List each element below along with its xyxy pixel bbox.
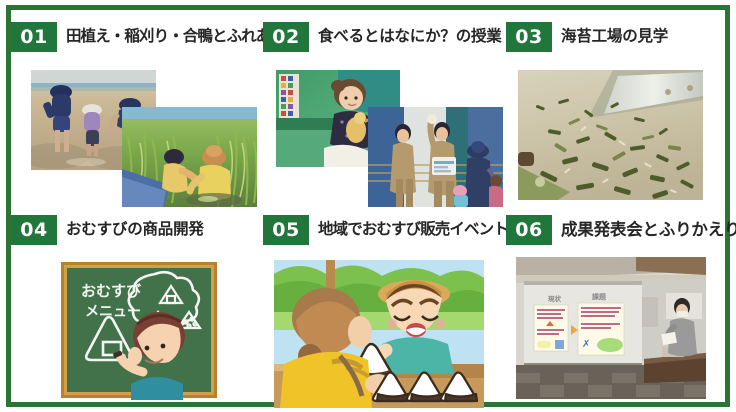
- onigiri-sales-event-illustration: [274, 260, 484, 408]
- panel-06-header: 06 成果発表会とふりかえり: [506, 215, 736, 245]
- panel-04-header: 04 おむすびの商品開発: [11, 215, 204, 245]
- svg-text:✗: ✗: [582, 339, 590, 350]
- panel-01-number-badge: 01: [11, 22, 57, 52]
- panel-03-title: 海苔工場の見学: [561, 29, 668, 45]
- panel-05-header: 05 地域でおむすび販売イベント: [263, 215, 508, 245]
- blackboard-onigiri-illustration: おむすび メニュー: [59, 260, 219, 400]
- slide-canvas: 01 田植え・稲刈り・合鴨とふれあい: [0, 0, 736, 412]
- panel-02[interactable]: 02 食べるとはなにか？の授業: [263, 22, 501, 210]
- slide-label-right: 課題: [592, 292, 607, 301]
- presentation-hall-photo: 現状 課題: [516, 257, 706, 399]
- classroom-lesson-photo: [368, 107, 503, 207]
- nori-factory-conveyor-photo: [518, 70, 703, 200]
- panel-02-number-badge: 02: [263, 22, 309, 52]
- panel-04[interactable]: 04 おむすびの商品開発 おむすび メニュー: [11, 215, 261, 402]
- panel-02-title: 食べるとはなにか？の授業: [318, 29, 502, 45]
- panel-03[interactable]: 03 海苔工場の見学: [506, 22, 725, 210]
- panel-03-number-badge: 03: [506, 22, 552, 52]
- blackboard-line-1: おむすび: [81, 282, 141, 300]
- panel-01-title: 田植え・稲刈り・合鴨とふれあい: [66, 29, 285, 45]
- panel-02-header: 02 食べるとはなにか？の授業: [263, 22, 502, 52]
- rice-field-duck-photo: [122, 107, 257, 207]
- panel-06-number-badge: 06: [506, 215, 552, 245]
- slide-label-left: 現状: [548, 294, 562, 303]
- panel-04-number-badge: 04: [11, 215, 57, 245]
- panel-06-title: 成果発表会とふりかえり: [561, 222, 736, 239]
- panel-06[interactable]: 06 成果発表会とふりかえり: [506, 215, 725, 402]
- panel-03-header: 03 海苔工場の見学: [506, 22, 668, 52]
- panel-04-title: おむすびの商品開発: [66, 222, 204, 238]
- panel-01-header: 01 田植え・稲刈り・合鴨とふれあい: [11, 22, 285, 52]
- panel-05[interactable]: 05 地域でおむすび販売イベント: [263, 215, 501, 402]
- panel-grid: 01 田植え・稲刈り・合鴨とふれあい: [11, 10, 725, 402]
- panel-05-number-badge: 05: [263, 215, 309, 245]
- panel-01[interactable]: 01 田植え・稲刈り・合鴨とふれあい: [11, 22, 261, 210]
- panel-05-title: 地域でおむすび販売イベント: [318, 222, 508, 238]
